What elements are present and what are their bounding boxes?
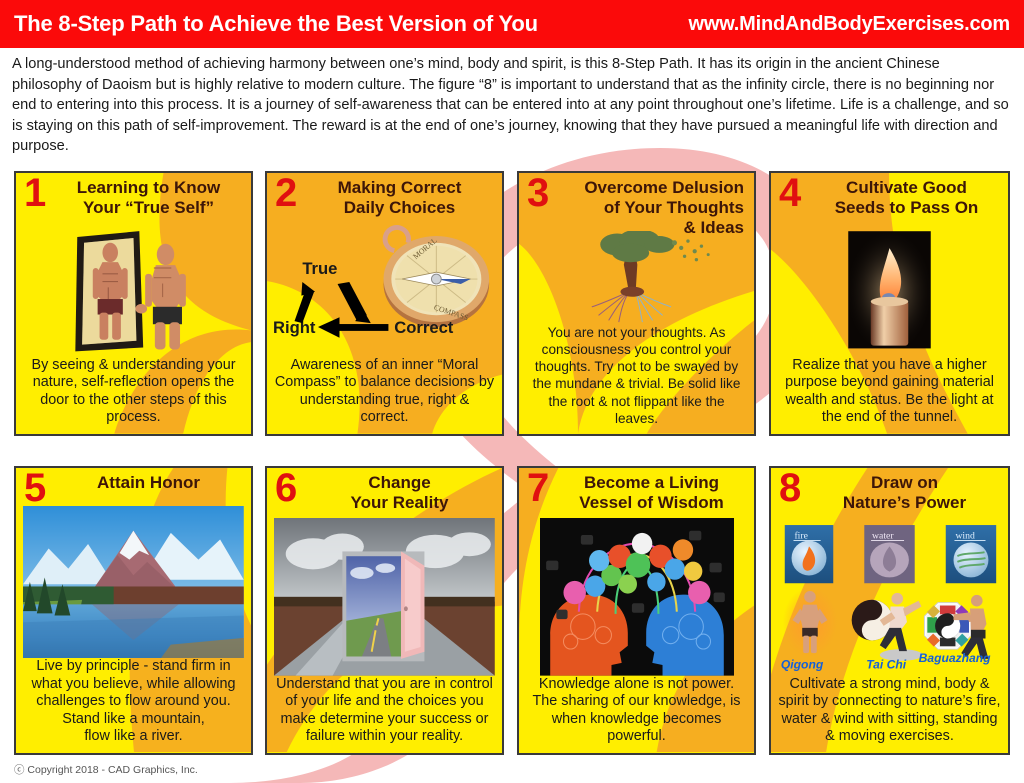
step-title-line2: of Your Thoughts [555,198,744,218]
card-illustration [22,506,245,658]
practice-label-baguazhang: Baguazhang [919,651,992,665]
step-number: 4 [779,173,801,213]
card-header: 5 Attain Honor [22,472,245,506]
elements-and-martial-arts-icon: fire water [777,518,1002,676]
card-illustration [525,518,748,676]
step-description: By seeing & understanding your nature, s… [22,357,245,430]
arrow-down-right-icon [338,282,371,323]
step-card-2[interactable]: 2 Making Correct Daily Choices [265,171,504,436]
step-number: 1 [24,173,46,213]
step-number: 5 [24,468,46,508]
step-title: Cultivate Good Seeds to Pass On [777,177,1002,218]
card-header: 6 Change Your Reality [273,472,496,518]
header-bar: The 8-Step Path to Achieve the Best Vers… [0,0,1024,48]
step-description: Realize that you have a higher purpose b… [777,357,1002,430]
step-description: Cultivate a strong mind, body & spirit b… [777,676,1002,749]
diagram-label-right: Right [273,318,316,337]
practice-label-tai-chi: Tai Chi [866,658,907,672]
svg-text:fire: fire [794,531,807,542]
step-title-line1: Cultivate Good [811,178,1002,198]
step-number: 3 [527,173,549,213]
diagram-label-correct: Correct [394,318,454,337]
svg-text:water: water [872,531,894,542]
step-card-8[interactable]: 8 Draw on Nature’s Power [769,466,1010,755]
step-title-line1: Overcome Delusion [555,178,744,198]
step-title-line2: Your Reality [303,493,496,513]
steps-grid: 1 Learning to Know Your “True Self” [14,171,1010,755]
step-description: You are not your thoughts. As consciousn… [525,324,748,430]
card-header: 4 Cultivate Good Seeds to Pass On [777,177,1002,223]
step-number: 6 [275,468,297,508]
step-title: Making Correct Daily Choices [273,177,496,218]
page-title: The 8-Step Path to Achieve the Best Vers… [14,11,538,37]
element-tile-fire: fire [785,525,833,583]
step-title: Become a Living Vessel of Wisdom [525,472,748,513]
step-title: Draw on Nature’s Power [777,472,1002,513]
intro-paragraph: A long-understood method of achieving ha… [12,54,1012,157]
step-number: 2 [275,173,297,213]
copyright-notice: ⓒ Copyright 2018 - CAD Graphics, Inc. [14,762,198,777]
practice-label-qigong: Qigong [781,658,824,672]
step-title-line1: Become a Living [555,473,748,493]
step-description: Understand that you are in control of yo… [273,676,496,749]
windblown-tree-icon [525,231,748,324]
shared-knowledge-heads-icon [540,518,734,676]
step-title-line1: Change [303,473,496,493]
card-header: 2 Making Correct Daily Choices [273,177,496,223]
step-description: Awareness of an inner “Moral Compass” to… [273,357,496,430]
step-card-4[interactable]: 4 Cultivate Good Seeds to Pass On [769,171,1010,436]
step-number: 7 [527,468,549,508]
element-tile-water: water [864,525,914,583]
bagua-icon [924,603,971,650]
step-card-7[interactable]: 7 Become a Living Vessel of Wisdom [517,466,756,755]
step-title: Learning to Know Your “True Self” [22,177,245,218]
card-illustration [22,223,245,357]
step-card-5[interactable]: 5 Attain Honor [14,466,253,755]
svg-text:wind: wind [955,531,975,542]
man-looking-in-mirror-icon [22,223,245,357]
step-number: 8 [779,468,801,508]
element-tile-wind: wind [946,525,996,583]
card-header: 7 Become a Living Vessel of Wisdom [525,472,748,518]
step-title: Overcome Delusion of Your Thoughts & Ide… [525,177,748,238]
open-door-on-road-icon [274,518,495,676]
lit-candle-icon [777,223,1002,357]
website-url[interactable]: www.MindAndBodyExercises.com [688,13,1010,36]
step-description: Live by principle - stand firm in what y… [22,658,245,749]
card-header: 1 Learning to Know Your “True Self” [22,177,245,223]
card-illustration [777,223,1002,357]
step-title-line2: Nature’s Power [807,493,1002,513]
step-title-line2: Your “True Self” [52,198,245,218]
step-title-line1: Learning to Know [52,178,245,198]
mountain-river-landscape-icon [23,506,244,658]
step-title-line1: Attain Honor [52,473,245,493]
step-title-line2: Seeds to Pass On [811,198,1002,218]
card-illustration: MORAL COMPASS True Right Correct [273,223,496,357]
step-card-3[interactable]: 3 Overcome Delusion of Your Thoughts & I… [517,171,756,436]
step-title: Change Your Reality [273,472,496,513]
moral-compass-icon: MORAL COMPASS True Right Correct [273,223,496,357]
step-title-line2: Vessel of Wisdom [555,493,748,513]
card-illustration [525,231,748,324]
step-title-line2: Daily Choices [303,198,496,218]
step-title: Attain Honor [22,472,245,493]
step-card-1[interactable]: 1 Learning to Know Your “True Self” [14,171,253,436]
step-card-6[interactable]: 6 Change Your Reality [265,466,504,755]
card-illustration: fire water [777,518,1002,676]
diagram-label-true: True [302,259,337,278]
step-description: Knowledge alone is not power. The sharin… [525,676,748,749]
card-illustration [273,518,496,676]
step-title-line1: Draw on [807,473,1002,493]
figure-qigong [783,587,837,657]
step-title-line1: Making Correct [303,178,496,198]
arrow-left-icon [318,317,388,338]
card-header: 8 Draw on Nature’s Power [777,472,1002,518]
